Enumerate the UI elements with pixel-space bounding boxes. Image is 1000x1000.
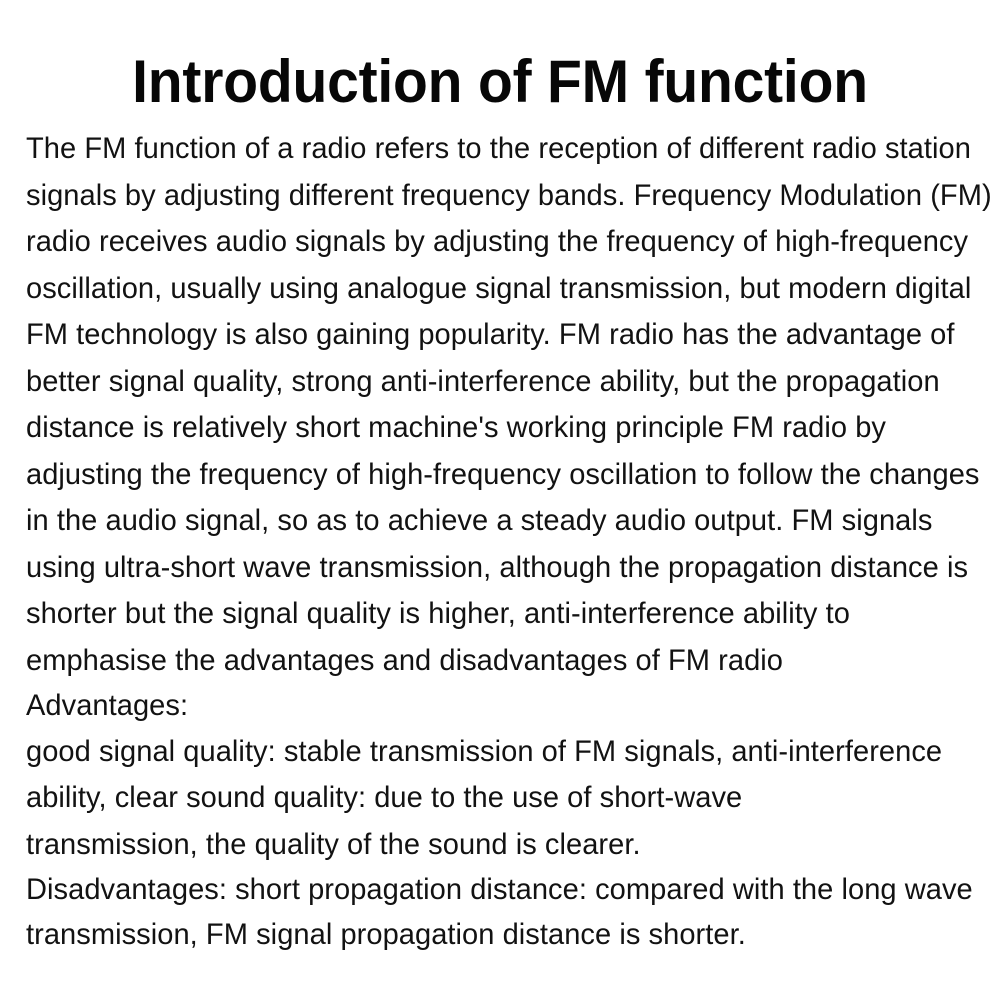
page-title: Introduction of FM function: [25, 49, 975, 115]
document-page: Introduction of FM function The FM funct…: [0, 0, 1000, 1000]
text-line: shorter but the signal quality is higher…: [26, 591, 972, 638]
text-line: ability, clear sound quality: due to the…: [26, 775, 972, 822]
text-line: Advantages:: [26, 684, 972, 729]
text-line: signals by adjusting different frequency…: [26, 173, 972, 220]
intro-paragraph: The FM function of a radio refers to the…: [26, 126, 986, 684]
advantages-heading: Advantages:: [26, 684, 986, 729]
text-line: FM technology is also gaining popularity…: [26, 312, 972, 359]
text-line: transmission, FM signal propagation dist…: [26, 913, 972, 958]
advantages-paragraph: good signal quality: stable transmission…: [26, 729, 986, 869]
text-line: better signal quality, strong anti-inter…: [26, 359, 972, 406]
text-line: in the audio signal, so as to achieve a …: [26, 498, 972, 545]
text-line: distance is relatively short machine's w…: [26, 405, 972, 452]
text-line: oscillation, usually using analogue sign…: [26, 266, 972, 313]
text-line: emphasise the advantages and disadvantag…: [26, 638, 972, 685]
text-line: transmission, the quality of the sound i…: [26, 822, 972, 869]
document-body: The FM function of a radio refers to the…: [26, 126, 986, 957]
text-line: radio receives audio signals by adjustin…: [26, 219, 972, 266]
text-line: using ultra-short wave transmission, alt…: [26, 545, 972, 592]
text-line: The FM function of a radio refers to the…: [26, 126, 972, 173]
text-line: good signal quality: stable transmission…: [26, 729, 972, 776]
text-line: adjusting the frequency of high-frequenc…: [26, 452, 972, 499]
text-line: Disadvantages: short propagation distanc…: [26, 868, 972, 913]
disadvantages-paragraph: Disadvantages: short propagation distanc…: [26, 868, 986, 957]
